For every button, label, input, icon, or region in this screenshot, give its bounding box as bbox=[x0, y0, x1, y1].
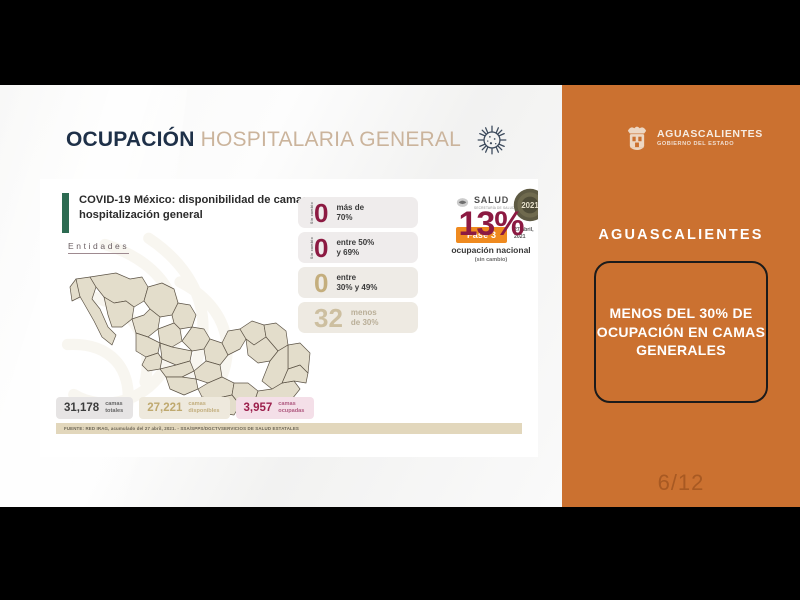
page-indicator: 6/12 bbox=[562, 470, 800, 496]
occupied-beds-value: 3,957 bbox=[244, 402, 273, 414]
government-name: AGUASCALIENTES bbox=[657, 129, 763, 140]
stat-label: entre30% y 49% bbox=[336, 273, 377, 293]
key-message-text: MENOS DEL 30% DE OCUPACIÓN EN CAMAS GENE… bbox=[596, 304, 766, 359]
state-heading: AGUASCALIENTES bbox=[562, 227, 800, 243]
entidades-label: Entidades bbox=[68, 241, 129, 254]
stat-label: más de70% bbox=[336, 203, 364, 223]
stat-row-under-30: 32 menosde 30% bbox=[298, 302, 418, 333]
stat-value: 0 bbox=[314, 200, 328, 226]
stat-side-label: Sin cambio bbox=[310, 201, 314, 223]
occupied-beds-item: 3,957 camasocupadas bbox=[236, 397, 315, 419]
national-occupancy-note: (sin cambio) bbox=[436, 257, 538, 263]
national-occupancy-label: ocupación nacional bbox=[436, 245, 538, 255]
stat-value: 0 bbox=[314, 235, 328, 261]
available-beds-value: 27,221 bbox=[147, 402, 182, 414]
stat-label: menosde 30% bbox=[351, 308, 379, 328]
total-beds-value: 31,178 bbox=[64, 402, 99, 414]
government-logo: AGUASCALIENTES GOBIERNO DEL ESTADO bbox=[624, 123, 763, 153]
government-subtitle: GOBIERNO DEL ESTADO bbox=[657, 141, 763, 147]
stat-row-over-70: Sin cambio 0 más de70% bbox=[298, 197, 418, 228]
key-message-callout: MENOS DEL 30% DE OCUPACIÓN EN CAMAS GENE… bbox=[594, 261, 768, 403]
total-beds-label: camastotales bbox=[105, 401, 123, 415]
source-footer: FUENTE: RED IRAG, acumulado del 27 abril… bbox=[56, 423, 522, 434]
stat-row-30-49: 0 entre30% y 49% bbox=[298, 267, 418, 298]
title-accent-bar bbox=[62, 193, 69, 233]
stat-value: 0 bbox=[314, 270, 328, 296]
occupied-beds-label: camasocupadas bbox=[278, 401, 304, 415]
section-header: OCUPACIÓN HOSPITALARIA GENERAL bbox=[66, 123, 509, 157]
bed-totals-row: 31,178 camastotales 27,221 camasdisponib… bbox=[56, 397, 314, 419]
aguascalientes-crest-icon bbox=[624, 123, 650, 153]
available-beds-label: camasdisponibles bbox=[188, 401, 219, 415]
covid-slide-card: COVID-19 México: disponibilidad de camas… bbox=[40, 179, 538, 457]
total-beds-item: 31,178 camastotales bbox=[56, 397, 133, 419]
stat-row-50-69: Sin cambio 0 entre 50%y 69% bbox=[298, 232, 418, 263]
national-occupancy-block: 13% ocupación nacional (sin cambio) bbox=[436, 207, 538, 263]
section-header-title: OCUPACIÓN HOSPITALARIA GENERAL bbox=[66, 128, 461, 152]
stat-side-label: Sin cambio bbox=[310, 236, 314, 258]
letterbox-top bbox=[0, 0, 800, 85]
header-title-bold: OCUPACIÓN bbox=[66, 128, 195, 151]
salud-wordmark: SALUD bbox=[474, 196, 515, 205]
header-title-light: HOSPITALARIA GENERAL bbox=[201, 128, 461, 151]
coronavirus-icon bbox=[475, 123, 509, 157]
broadcast-slide-frame: OCUPACIÓN HOSPITALARIA GENERAL bbox=[0, 0, 800, 600]
letterbox-bottom bbox=[0, 507, 800, 600]
left-content-panel: OCUPACIÓN HOSPITALARIA GENERAL bbox=[0, 85, 562, 507]
national-occupancy-value: 13% bbox=[436, 207, 538, 241]
right-orange-panel: AGUASCALIENTES GOBIERNO DEL ESTADO AGUAS… bbox=[562, 85, 800, 507]
stat-label: entre 50%y 69% bbox=[336, 238, 374, 258]
stat-value: 32 bbox=[314, 305, 343, 331]
available-beds-item: 27,221 camasdisponibles bbox=[139, 397, 229, 419]
occupancy-breakdown-list: Sin cambio 0 más de70% Sin cambio 0 entr… bbox=[298, 197, 418, 337]
